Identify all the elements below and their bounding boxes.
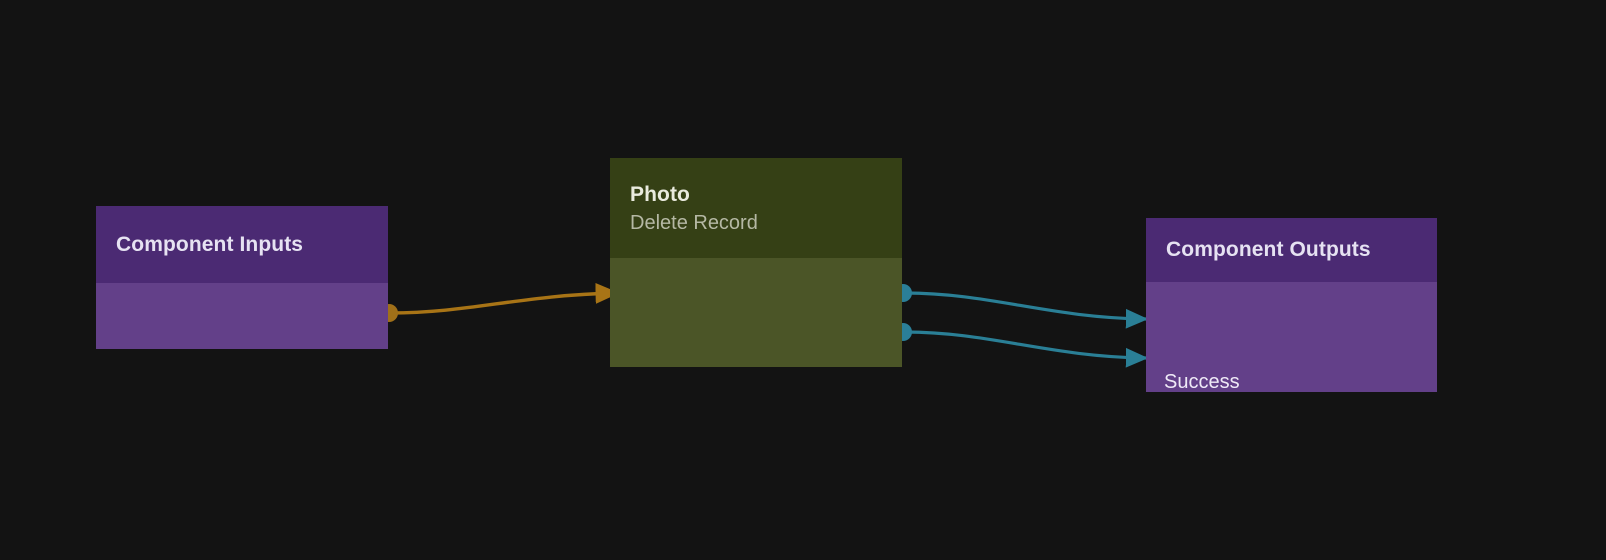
edge-photo-failure-to-outputs-failure[interactable]	[894, 323, 1146, 358]
node-photo[interactable]: Photo Delete Record Do Success Failure	[610, 158, 902, 367]
port-label: Success	[1164, 371, 1240, 392]
node-component-outputs[interactable]: Component Outputs Success Failure	[1146, 218, 1437, 392]
node-body: Do Success Failure	[610, 258, 902, 367]
node-body: Success Failure	[1146, 282, 1437, 392]
edge-photo-success-to-outputs-success[interactable]	[894, 284, 1146, 319]
node-header[interactable]: Component Outputs	[1146, 218, 1437, 282]
edge-inputs-do-to-photo-do[interactable]	[380, 293, 617, 322]
node-title: Photo	[630, 183, 690, 207]
port-row-outputs-success[interactable]: Success	[1164, 371, 1240, 392]
node-header[interactable]: Component Inputs	[96, 206, 388, 283]
node-body: Do	[96, 283, 388, 349]
node-subtitle: Delete Record	[630, 212, 758, 235]
node-title: Component Inputs	[116, 233, 303, 257]
node-graph-canvas[interactable]: Component Inputs Do Photo Delete Record …	[0, 0, 1606, 560]
node-title: Component Outputs	[1166, 238, 1371, 262]
edge-path	[905, 293, 1146, 319]
edge-path	[905, 332, 1146, 358]
node-header[interactable]: Photo Delete Record	[610, 158, 902, 258]
edge-path	[390, 293, 617, 313]
node-component-inputs[interactable]: Component Inputs Do	[96, 206, 388, 349]
